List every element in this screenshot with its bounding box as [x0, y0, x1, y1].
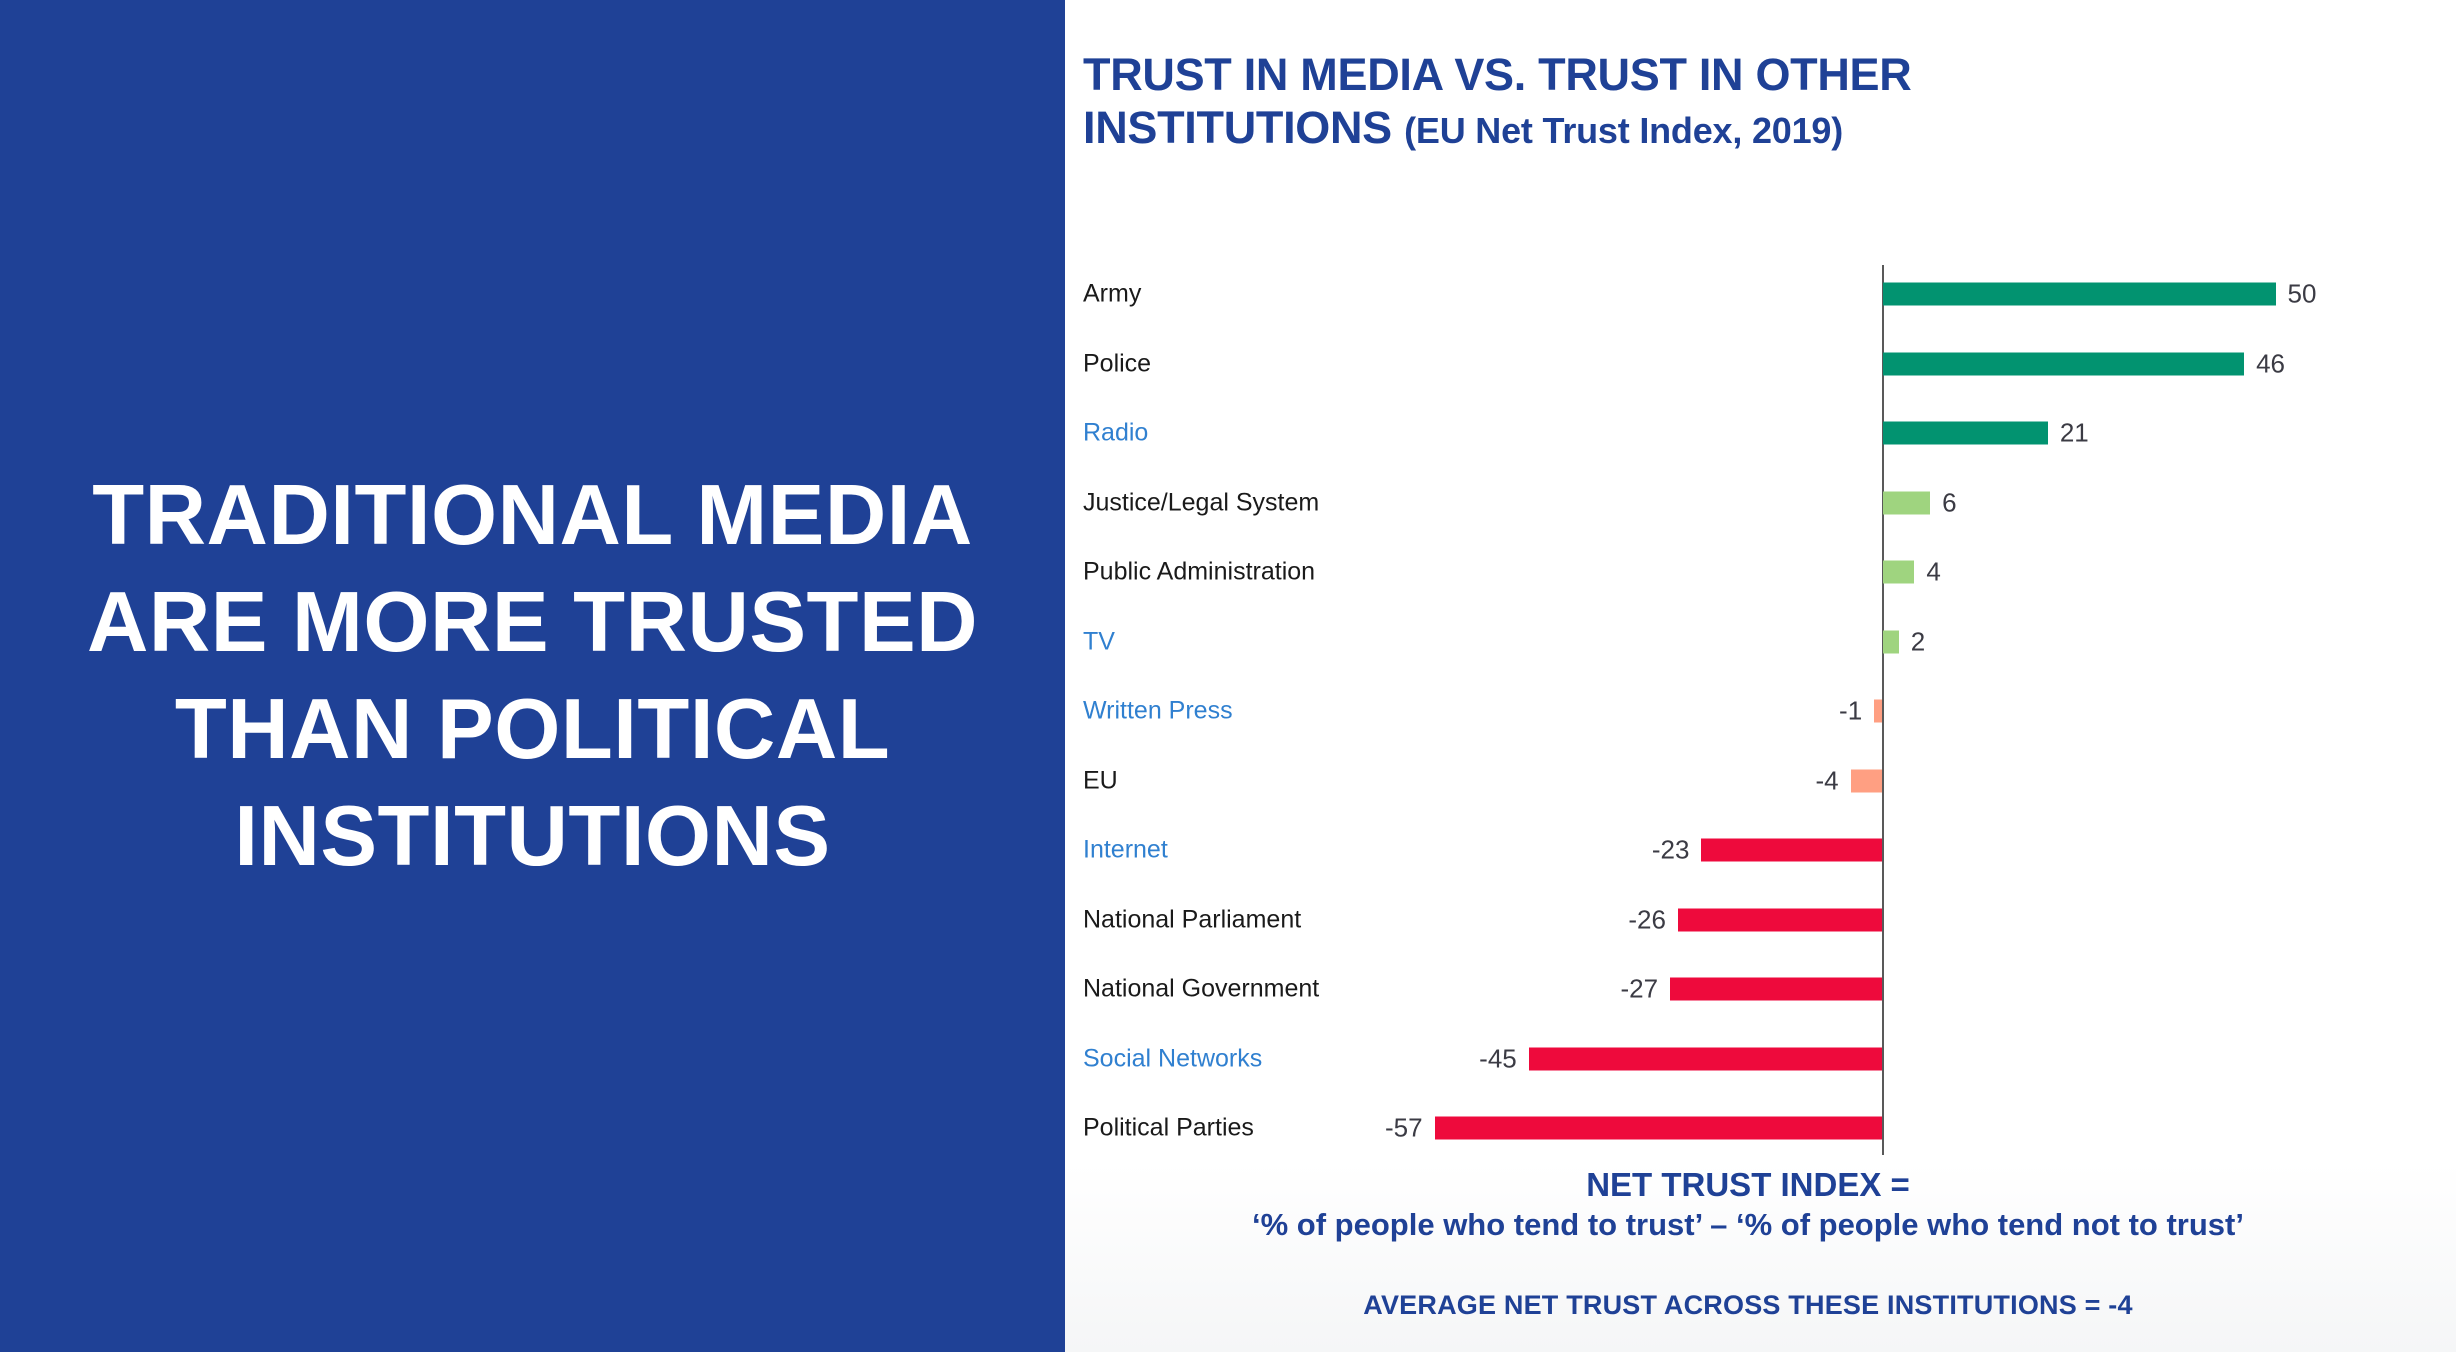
value-label: -57 [1385, 1113, 1423, 1144]
value-label: -4 [1815, 765, 1838, 796]
bar-row: Social Networks-45 [1065, 1024, 2455, 1094]
value-bar [1883, 561, 1914, 584]
value-label: -27 [1620, 974, 1658, 1005]
category-label: Internet [1083, 836, 1168, 865]
net-trust-definition-line2: ‘% of people who tend to trust’ – ‘% of … [1065, 1205, 2431, 1245]
bar-row: Written Press-1 [1065, 676, 2455, 746]
net-trust-definition-line1: NET TRUST INDEX = [1065, 1165, 2431, 1205]
chart-title: TRUST IN MEDIA VS. TRUST IN OTHER INSTIT… [1083, 48, 2423, 154]
category-label: Police [1083, 349, 1151, 378]
bar-row: National Parliament-26 [1065, 885, 2455, 955]
value-label: -26 [1628, 904, 1666, 935]
bar-row: Police46 [1065, 329, 2455, 399]
chart-subtitle: (EU Net Trust Index, 2019) [1404, 110, 1843, 151]
value-label: -45 [1479, 1043, 1517, 1074]
value-label: -1 [1839, 696, 1862, 727]
value-bar [1678, 908, 1882, 931]
value-label: -23 [1652, 835, 1690, 866]
bar-row: Justice/Legal System6 [1065, 468, 2455, 538]
bar-row: Public Administration4 [1065, 537, 2455, 607]
bar-chart-plot: Army50Police46Radio21Justice/Legal Syste… [1065, 255, 2455, 1160]
value-bar [1883, 352, 2244, 375]
category-label: Radio [1083, 419, 1148, 448]
category-label: Army [1083, 280, 1141, 309]
value-bar [1701, 839, 1882, 862]
category-label: Public Administration [1083, 558, 1315, 587]
value-label: 46 [2256, 348, 2285, 379]
bar-row: Political Parties-57 [1065, 1093, 2455, 1163]
value-bar [1883, 491, 1930, 514]
value-label: 50 [2288, 279, 2317, 310]
value-label: 2 [1911, 626, 1925, 657]
bar-row: TV2 [1065, 607, 2455, 677]
value-label: 6 [1942, 487, 1956, 518]
average-net-trust-note: AVERAGE NET TRUST ACROSS THESE INSTITUTI… [1065, 1290, 2431, 1321]
chart-panel: TRUST IN MEDIA VS. TRUST IN OTHER INSTIT… [1065, 0, 2456, 1352]
chart-title-line2: INSTITUTIONS [1083, 102, 1404, 153]
value-bar [1670, 978, 1882, 1001]
value-bar [1851, 769, 1882, 792]
net-trust-definition: NET TRUST INDEX = ‘% of people who tend … [1065, 1165, 2431, 1246]
category-label: Social Networks [1083, 1044, 1262, 1073]
bar-row: Internet-23 [1065, 815, 2455, 885]
value-bar [1435, 1117, 1882, 1140]
value-bar [1883, 283, 2276, 306]
value-bar [1874, 700, 1882, 723]
headline-panel: Traditional media are more trusted than … [0, 0, 1065, 1352]
category-label: EU [1083, 766, 1118, 795]
category-label: TV [1083, 627, 1115, 656]
value-bar [1883, 422, 2048, 445]
bar-row: Radio21 [1065, 398, 2455, 468]
bar-row: EU-4 [1065, 746, 2455, 816]
slide-root: Traditional media are more trusted than … [0, 0, 2456, 1352]
value-bar [1883, 630, 1899, 653]
chart-title-line1: TRUST IN MEDIA VS. TRUST IN OTHER [1083, 49, 1911, 100]
bar-row: Army50 [1065, 259, 2455, 329]
category-label: National Parliament [1083, 905, 1301, 934]
category-label: Justice/Legal System [1083, 488, 1319, 517]
value-label: 21 [2060, 418, 2089, 449]
value-bar [1529, 1047, 1882, 1070]
category-label: Political Parties [1083, 1114, 1254, 1143]
headline-text: Traditional media are more trusted than … [0, 462, 1065, 890]
bar-row: National Government-27 [1065, 954, 2455, 1024]
category-label: National Government [1083, 975, 1319, 1004]
value-label: 4 [1926, 557, 1940, 588]
category-label: Written Press [1083, 697, 1233, 726]
